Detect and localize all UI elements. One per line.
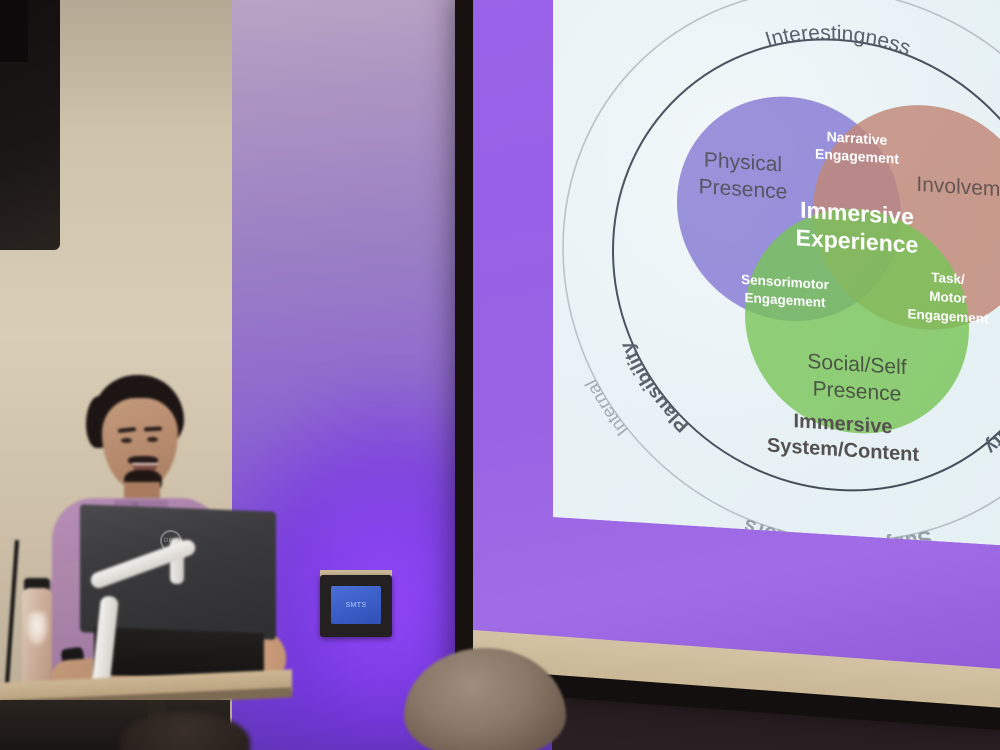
immersive-experience-venn-diagram: Preference Subjective Factors Interestin… [553,0,1000,547]
wall-control-panel-screen[interactable]: SMTS [331,586,381,624]
label-task-motor-engagement-line2: Motor [929,289,967,306]
presentation-room-photo: Preference Subjective Factors Interestin… [0,0,1000,750]
wall-monitor-corner [0,0,28,62]
wall-control-panel-label: SMTS [345,602,366,609]
projected-slide: Preference Subjective Factors Interestin… [553,0,1000,547]
presenter-eye-right [147,437,158,442]
water-bottle-graphic [26,612,48,646]
presenter-eye-left [121,438,132,443]
label-task-motor-engagement-line1: Task/ [931,270,965,287]
label-physical-presence-line1: Physical [704,149,782,177]
